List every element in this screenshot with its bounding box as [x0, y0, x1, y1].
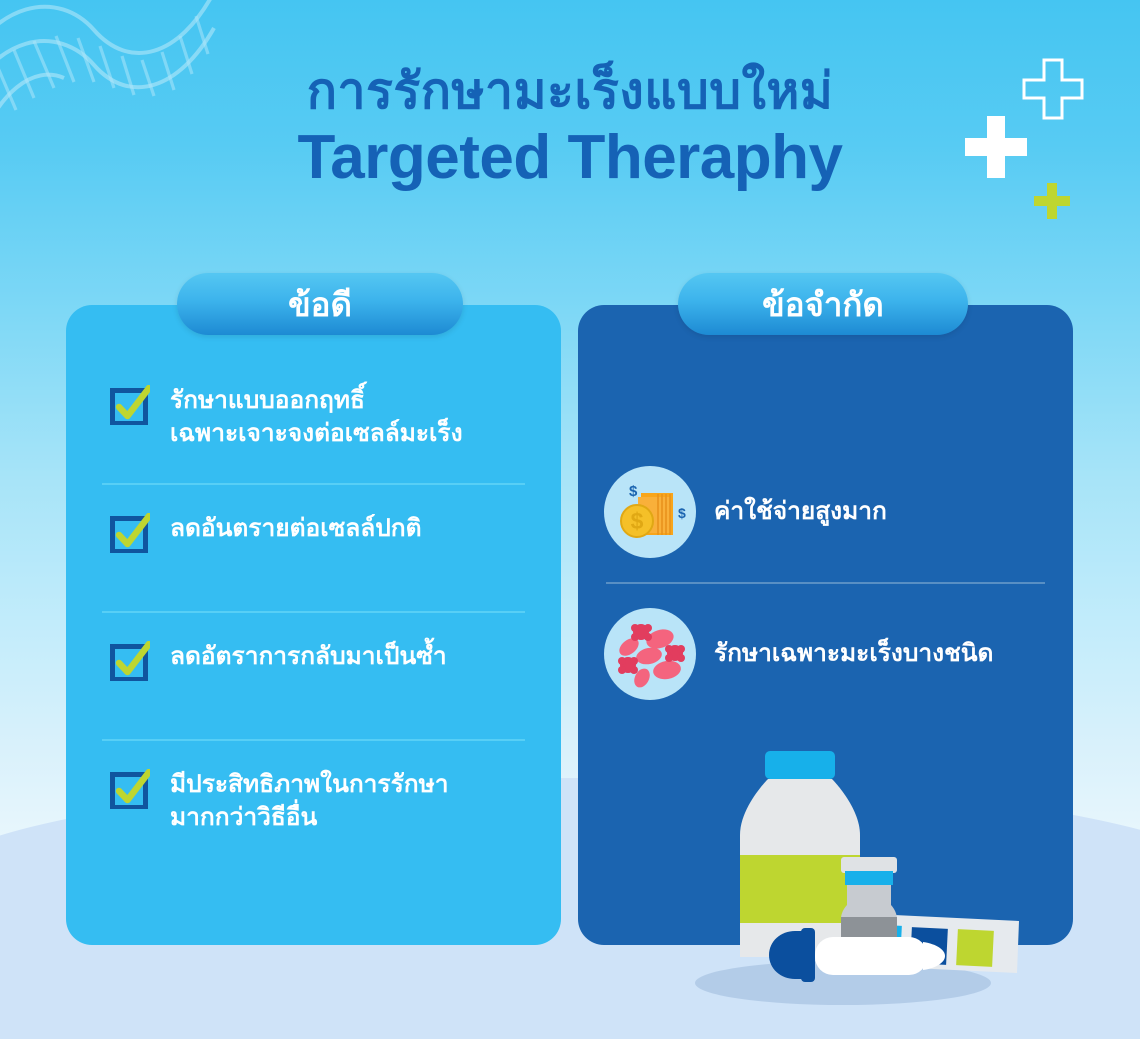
title-thai: การรักษามะเร็งแบบใหม่: [0, 62, 1140, 121]
medicine-bottles-illustration: [665, 745, 1025, 1010]
title-english: Targeted Theraphy: [0, 123, 1140, 192]
list-item-label: รักษาแบบออกฤทธิ์ เฉพาะเจาะจงต่อเซลล์มะเร…: [170, 383, 463, 451]
advantages-pill-label: ข้อดี: [177, 273, 463, 335]
svg-text:$: $: [629, 483, 638, 500]
list-item: มีประสิทธิภาพในการรักษา มากกว่าวิธีอื่น: [66, 767, 561, 841]
checkbox-checked-icon: [110, 769, 150, 809]
advantages-list: รักษาแบบออกฤทธิ์ เฉพาะเจาะจงต่อเซลล์มะเร…: [66, 383, 561, 841]
svg-text:$: $: [678, 505, 686, 521]
list-item-label: มีประสิทธิภาพในการรักษา มากกว่าวิธีอื่น: [170, 767, 449, 835]
limitations-pill-label: ข้อจำกัด: [678, 273, 968, 335]
checkbox-checked-icon: [110, 641, 150, 681]
advantages-card: ข้อดี รักษาแบบออกฤทธิ์ เฉพาะเจาะจงต่อเซล…: [66, 305, 561, 945]
blood-cells-icon: [604, 608, 696, 700]
checkbox-checked-icon: [110, 385, 150, 425]
list-item-label: ลดอัตราการกลับมาเป็นซ้ำ: [170, 639, 447, 673]
list-item: ลดอันตรายต่อเซลล์ปกติ: [66, 511, 561, 585]
infographic-canvas: การรักษามะเร็งแบบใหม่ Targeted Theraphy …: [0, 0, 1140, 1039]
money-stack-icon: $ $ $: [604, 466, 696, 558]
list-item: ลดอัตราการกลับมาเป็นซ้ำ: [66, 639, 561, 713]
page-title: การรักษามะเร็งแบบใหม่ Targeted Theraphy: [0, 62, 1140, 192]
list-item-label: ค่าใช้จ่ายสูงมาก: [714, 496, 887, 528]
limitations-list: $ $ $ ค่าใช้จ่ายสูงมาก: [578, 460, 1073, 706]
divider: [606, 582, 1045, 584]
list-item: $ $ $ ค่าใช้จ่ายสูงมาก: [578, 460, 1073, 564]
svg-text:$: $: [631, 508, 644, 534]
divider: [102, 611, 525, 613]
divider: [102, 483, 525, 485]
checkbox-checked-icon: [110, 513, 150, 553]
list-item-label: รักษาเฉพาะมะเร็งบางชนิด: [714, 638, 993, 670]
list-item: รักษาแบบออกฤทธิ์ เฉพาะเจาะจงต่อเซลล์มะเร…: [66, 383, 561, 457]
list-item: รักษาเฉพาะมะเร็งบางชนิด: [578, 602, 1073, 706]
divider: [102, 739, 525, 741]
list-item-label: ลดอันตรายต่อเซลล์ปกติ: [170, 511, 422, 545]
